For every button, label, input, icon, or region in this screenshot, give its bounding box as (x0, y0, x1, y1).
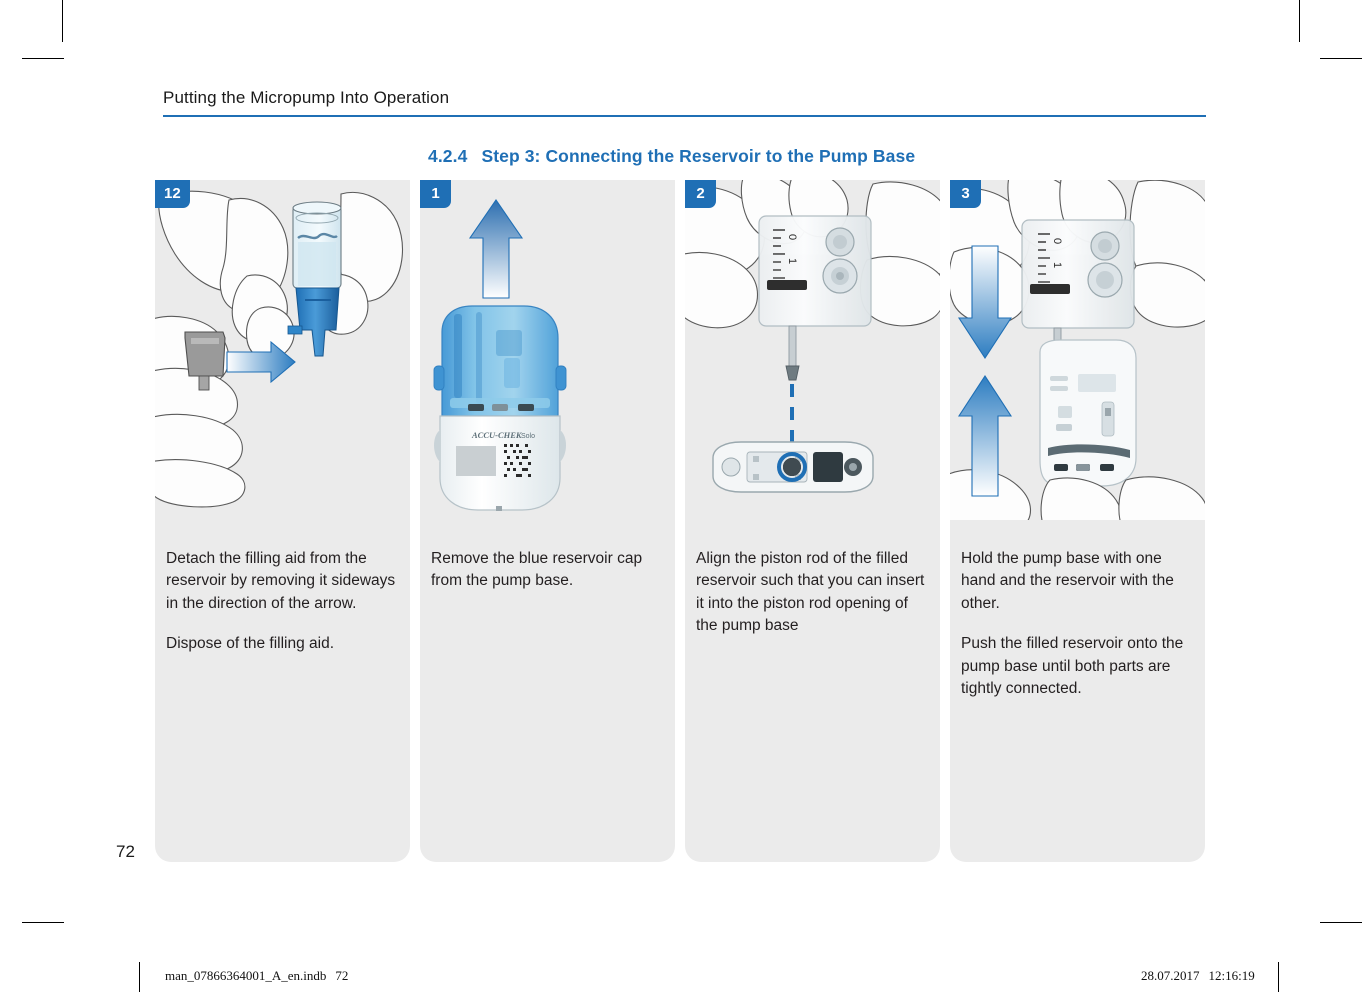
running-header: Putting the Micropump Into Operation (163, 88, 1206, 117)
scale-label-1: 1 (1051, 262, 1063, 268)
crop-mark-left-top (22, 58, 64, 59)
scale-label-1: 1 (786, 258, 798, 264)
device-model-label: Solo (521, 433, 535, 440)
figure-push-reservoir-onto-pump-base: 0 1 2 (950, 180, 1205, 520)
footer-file-name: man_07866364001_A_en.indb (165, 968, 326, 983)
crop-mark-right-top (1320, 58, 1362, 59)
footer-file-info: man_07866364001_A_en.indb72 (165, 968, 348, 984)
crop-mark-top-right (1299, 0, 1300, 42)
scale-label-0: 0 (1051, 238, 1063, 244)
scale-label-0: 0 (786, 234, 798, 240)
figure-align-piston-rod: 0 1 2 (685, 180, 940, 520)
footer-timestamp: 28.07.201712:16:19 (1141, 968, 1255, 984)
caption-panel-1: Remove the blue reservoir cap from the p… (431, 548, 663, 593)
caption-panel-2: Align the piston rod of the filled reser… (696, 548, 928, 638)
footer-time: 12:16:19 (1209, 968, 1255, 983)
caption-paragraph: Remove the blue reservoir cap from the p… (431, 548, 663, 593)
device-brand-label: ACCU-CHEK (471, 430, 523, 440)
section-title-text: Step 3: Connecting the Reservoir to the … (481, 146, 915, 166)
step-panel-1: 1 (420, 180, 675, 862)
caption-panel-12: Detach the filling aid from the reservoi… (166, 548, 398, 656)
footer-date: 28.07.2017 (1141, 968, 1200, 983)
figure-hands-detaching-filling-aid (155, 180, 410, 520)
crop-mark-top-left (62, 0, 63, 42)
running-header-title: Putting the Micropump Into Operation (163, 88, 1206, 108)
step-badge-12: 12 (155, 180, 190, 208)
crop-mark-right-bottom (1320, 922, 1362, 923)
footer-divider-right (1278, 962, 1279, 992)
caption-paragraph: Push the filled reservoir onto the pump … (961, 633, 1193, 700)
step-badge-2: 2 (685, 180, 716, 208)
step-badge-1: 1 (420, 180, 451, 208)
crop-mark-left-bottom (22, 922, 64, 923)
caption-paragraph: Dispose of the filling aid. (166, 633, 398, 655)
step-panel-12: 12 (155, 180, 410, 862)
step-panel-3: 3 (950, 180, 1205, 862)
footer-divider-left (139, 962, 140, 992)
section-heading: 4.2.4Step 3: Connecting the Reservoir to… (428, 146, 915, 167)
caption-panel-3: Hold the pump base with one hand and the… (961, 548, 1193, 701)
step-badge-3: 3 (950, 180, 981, 208)
step-panel-2: 2 (685, 180, 940, 862)
header-rule (163, 115, 1206, 117)
page-number: 72 (116, 842, 135, 862)
section-number: 4.2.4 (428, 146, 467, 166)
caption-paragraph: Align the piston rod of the filled reser… (696, 548, 928, 638)
step-panel-grid: 12 (155, 180, 1215, 862)
footer-file-page: 72 (335, 968, 348, 983)
caption-paragraph: Hold the pump base with one hand and the… (961, 548, 1193, 615)
caption-paragraph: Detach the filling aid from the reservoi… (166, 548, 398, 615)
figure-pump-base-with-blue-cap: ACCU-CHEK Solo (420, 180, 675, 520)
